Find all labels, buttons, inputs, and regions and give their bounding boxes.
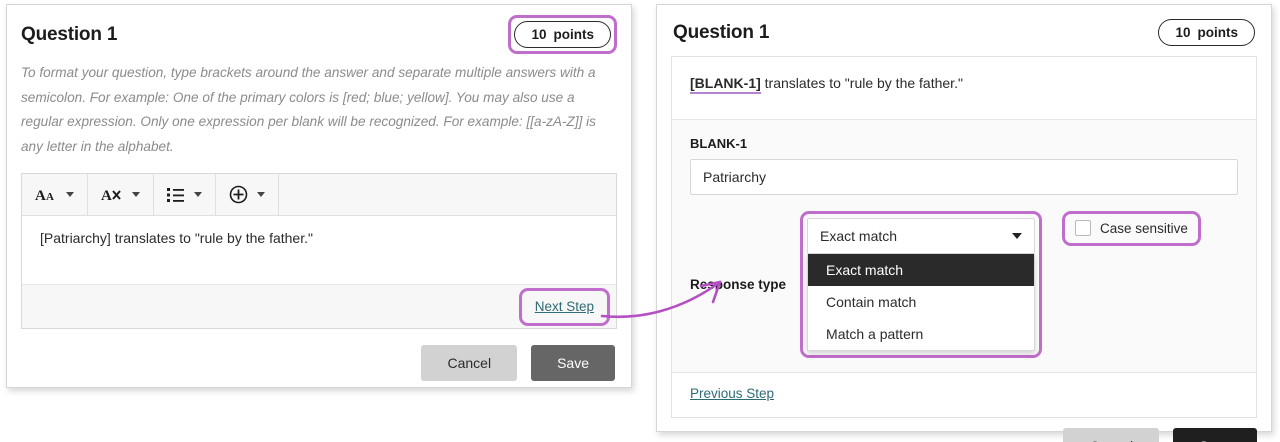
response-type-label: Response type: [690, 277, 786, 292]
blank-card-footer: Previous Step: [672, 373, 1256, 417]
svg-text:A: A: [101, 188, 112, 204]
question-editor-panel: Question 1 10 points To format your ques…: [6, 4, 632, 388]
left-panel-header: Question 1 10 points: [7, 5, 631, 58]
points-highlight-box: 10 points: [508, 15, 617, 54]
dropdown-option-contain-match[interactable]: Contain match: [808, 286, 1034, 318]
blank-token[interactable]: [BLANK-1]: [690, 75, 761, 94]
rich-text-editor: A A A: [21, 173, 617, 329]
response-type-select[interactable]: Exact match: [807, 218, 1035, 254]
dropdown-option-match-pattern[interactable]: Match a pattern: [808, 318, 1034, 350]
toolbar-group-clear-formatting[interactable]: A: [88, 174, 154, 215]
response-type-row: Response type Exact match Exact match Co…: [690, 211, 1238, 358]
list-icon: [167, 187, 185, 203]
right-points-badge[interactable]: 10 points: [1158, 19, 1255, 46]
blank-config-panel: Question 1 10 points [BLANK-1] translate…: [656, 4, 1272, 432]
format-instructions: To format your question, type brackets a…: [7, 58, 631, 159]
question-preview-rest: translates to "rule by the father.": [761, 75, 963, 91]
editor-toolbar: A A A: [22, 174, 616, 216]
points-badge[interactable]: 10 points: [514, 21, 611, 48]
blank-card: [BLANK-1] translates to "rule by the fat…: [671, 56, 1257, 418]
cancel-button[interactable]: Cancel: [421, 345, 517, 381]
right-panel-header: Question 1 10 points: [657, 5, 1271, 56]
case-sensitive-checkbox[interactable]: [1075, 220, 1091, 236]
question-preview: [BLANK-1] translates to "rule by the fat…: [672, 57, 1256, 120]
page-title: Question 1: [21, 24, 117, 46]
insert-plus-icon: [229, 185, 248, 204]
clear-formatting-icon: A: [101, 186, 123, 204]
editor-footer: Next Step: [22, 284, 616, 328]
right-save-button[interactable]: Save: [1173, 428, 1257, 442]
right-panel-body: [BLANK-1] translates to "rule by the fat…: [657, 56, 1271, 418]
right-points-unit: points: [1198, 25, 1239, 40]
right-cancel-button[interactable]: Cancel: [1063, 428, 1159, 442]
response-type-dropdown-menu: Exact match Contain match Match a patter…: [807, 254, 1035, 351]
dropdown-option-exact-match[interactable]: Exact match: [808, 254, 1034, 286]
points-unit: points: [554, 27, 595, 42]
chevron-down-icon: [1012, 233, 1022, 239]
font-size-icon: A A: [35, 186, 57, 204]
response-type-highlight-box: Exact match Exact match Contain match Ma…: [800, 211, 1042, 358]
chevron-down-icon: [194, 192, 202, 197]
response-type-selected-value: Exact match: [820, 228, 897, 244]
editor-content[interactable]: [Patriarchy] translates to "rule by the …: [22, 216, 616, 284]
right-points-value: 10: [1175, 25, 1190, 40]
previous-step-link[interactable]: Previous Step: [690, 386, 774, 401]
screenshot-stage: Question 1 10 points To format your ques…: [0, 0, 1280, 442]
case-sensitive-label: Case sensitive: [1100, 221, 1188, 236]
response-type-select-stack: Exact match Exact match Contain match Ma…: [807, 218, 1035, 351]
next-step-highlight-box: Next Step: [519, 288, 610, 326]
right-panel-actions: Cancel Save: [657, 418, 1271, 442]
toolbar-group-font-size[interactable]: A A: [22, 174, 88, 215]
case-sensitive-control[interactable]: Case sensitive: [1067, 216, 1196, 240]
toolbar-group-list[interactable]: [154, 174, 216, 215]
left-panel-actions: Cancel Save: [7, 329, 631, 381]
chevron-down-icon: [132, 192, 140, 197]
toolbar-spacer: [279, 174, 616, 215]
blank-field-label: BLANK-1: [690, 136, 1238, 151]
save-button[interactable]: Save: [531, 345, 615, 381]
case-sensitive-highlight-box: Case sensitive: [1062, 211, 1201, 246]
points-value: 10: [531, 27, 546, 42]
right-page-title: Question 1: [673, 22, 769, 44]
svg-text:A: A: [35, 188, 46, 204]
chevron-down-icon: [257, 192, 265, 197]
chevron-down-icon: [66, 192, 74, 197]
next-step-link[interactable]: Next Step: [535, 299, 594, 314]
svg-text:A: A: [46, 191, 54, 203]
blank-fields: BLANK-1 Response type Exact match: [672, 120, 1256, 373]
toolbar-group-insert[interactable]: [216, 174, 279, 215]
blank-answer-input[interactable]: [690, 159, 1238, 195]
